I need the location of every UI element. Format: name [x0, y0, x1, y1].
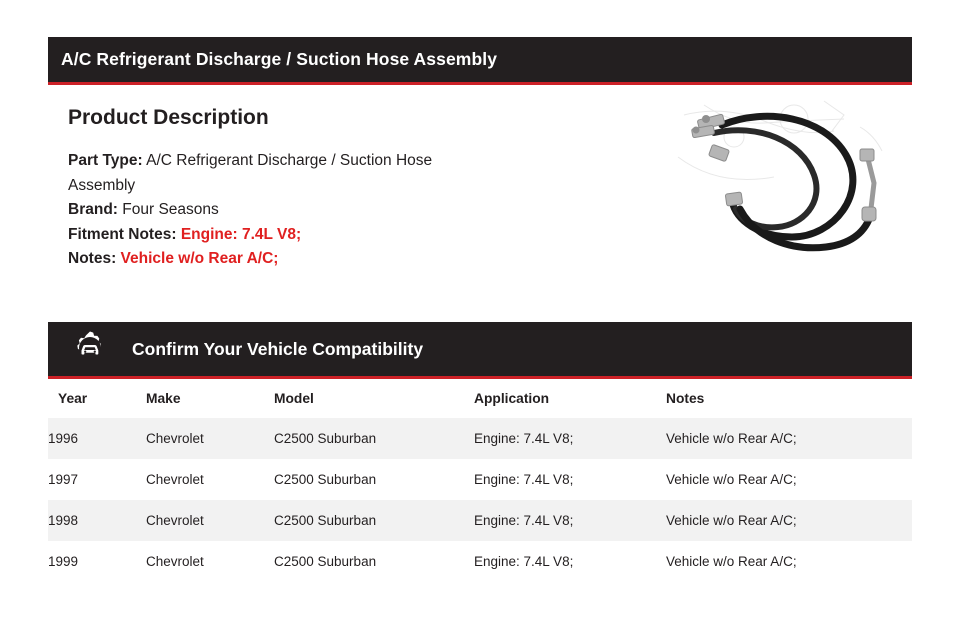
spec-value-brand: Four Seasons: [122, 201, 219, 218]
product-title: A/C Refrigerant Discharge / Suction Hose…: [61, 49, 497, 70]
cell-model: C2500 Suburban: [274, 500, 474, 541]
cell-year: 1999: [48, 541, 146, 582]
column-header-model: Model: [274, 379, 474, 418]
cell-year: 1998: [48, 500, 146, 541]
spec-label-fitment-notes: Fitment Notes:: [68, 226, 177, 243]
table-row: 1998 Chevrolet C2500 Suburban Engine: 7.…: [48, 500, 912, 541]
cell-make: Chevrolet: [146, 541, 274, 582]
cell-notes: Vehicle w/o Rear A/C;: [666, 459, 912, 500]
compatibility-table: Year Make Model Application Notes 1996 C…: [48, 379, 912, 582]
cell-make: Chevrolet: [146, 418, 274, 459]
product-spec-list: Part Type: A/C Refrigerant Discharge / S…: [68, 149, 488, 272]
cell-application: Engine: 7.4L V8;: [474, 459, 666, 500]
spec-label-notes: Notes:: [68, 250, 116, 267]
spec-row-fitment-notes: Fitment Notes: Engine: 7.4L V8;: [68, 223, 488, 248]
gear-car-icon: [70, 329, 110, 369]
cell-year: 1997: [48, 459, 146, 500]
product-image: [674, 97, 894, 272]
table-row: 1996 Chevrolet C2500 Suburban Engine: 7.…: [48, 418, 912, 459]
table-row: 1999 Chevrolet C2500 Suburban Engine: 7.…: [48, 541, 912, 582]
compatibility-header: Confirm Your Vehicle Compatibility: [48, 322, 912, 379]
product-detail-page: A/C Refrigerant Discharge / Suction Hose…: [0, 0, 960, 618]
column-header-notes: Notes: [666, 379, 912, 418]
cell-model: C2500 Suburban: [274, 459, 474, 500]
cell-model: C2500 Suburban: [274, 541, 474, 582]
product-description-card: A/C Refrigerant Discharge / Suction Hose…: [48, 37, 912, 304]
spec-value-notes: Vehicle w/o Rear A/C;: [121, 250, 279, 267]
spec-label-brand: Brand:: [68, 201, 118, 218]
cell-make: Chevrolet: [146, 459, 274, 500]
spec-value-fitment-notes: Engine: 7.4L V8;: [181, 226, 301, 243]
cell-application: Engine: 7.4L V8;: [474, 541, 666, 582]
cell-notes: Vehicle w/o Rear A/C;: [666, 418, 912, 459]
cell-application: Engine: 7.4L V8;: [474, 418, 666, 459]
cell-make: Chevrolet: [146, 500, 274, 541]
table-header-row: Year Make Model Application Notes: [48, 379, 912, 418]
table-row: 1997 Chevrolet C2500 Suburban Engine: 7.…: [48, 459, 912, 500]
vehicle-compatibility-section: Confirm Your Vehicle Compatibility Year …: [48, 322, 912, 582]
column-header-make: Make: [146, 379, 274, 418]
product-card-header: A/C Refrigerant Discharge / Suction Hose…: [48, 37, 912, 85]
spec-row-notes: Notes: Vehicle w/o Rear A/C;: [68, 247, 488, 272]
cell-notes: Vehicle w/o Rear A/C;: [666, 500, 912, 541]
section-title-product-description: Product Description: [68, 106, 269, 130]
spec-row-part-type: Part Type: A/C Refrigerant Discharge / S…: [68, 149, 488, 198]
compatibility-title: Confirm Your Vehicle Compatibility: [132, 339, 423, 360]
spec-label-part-type: Part Type:: [68, 152, 143, 169]
cell-model: C2500 Suburban: [274, 418, 474, 459]
spec-row-brand: Brand: Four Seasons: [68, 198, 488, 223]
cell-notes: Vehicle w/o Rear A/C;: [666, 541, 912, 582]
cell-application: Engine: 7.4L V8;: [474, 500, 666, 541]
column-header-application: Application: [474, 379, 666, 418]
column-header-year: Year: [48, 379, 146, 418]
cell-year: 1996: [48, 418, 146, 459]
product-card-body: Product Description Part Type: A/C Refri…: [48, 85, 912, 304]
